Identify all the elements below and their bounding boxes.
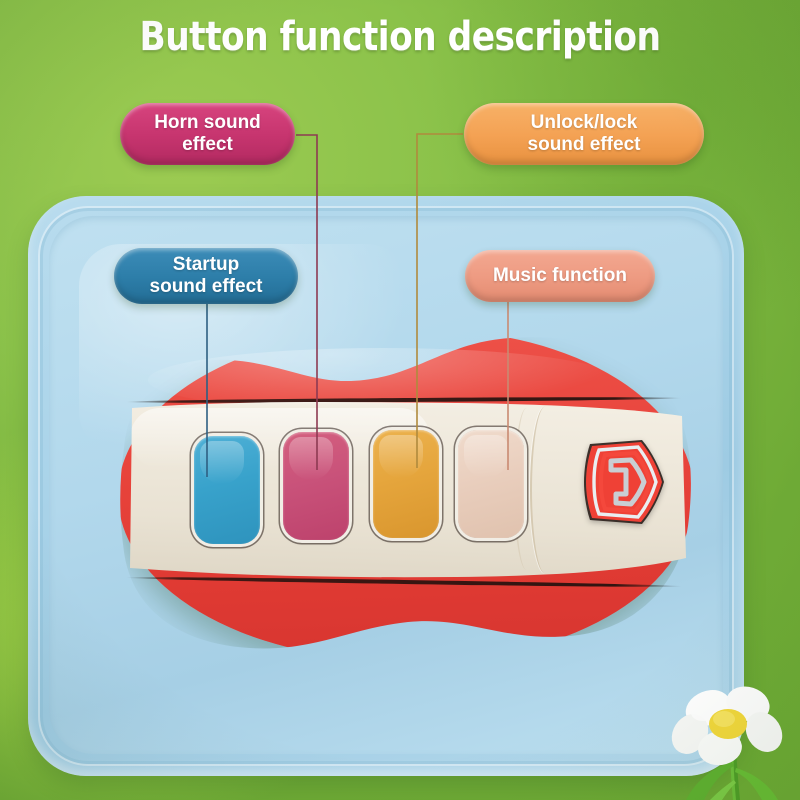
callout-unlock-label: Unlock/lock sound effect <box>528 112 641 157</box>
callout-music-label: Music function <box>493 265 627 287</box>
pink-button[interactable] <box>283 432 349 540</box>
peach-button[interactable] <box>458 430 524 538</box>
toy-car-key-remote <box>118 330 694 660</box>
callout-unlock-lock-sound-effect[interactable]: Unlock/lock sound effect <box>464 103 704 165</box>
car-brand-emblem-icon <box>580 436 666 528</box>
device-panel-seam <box>530 406 556 574</box>
button-gloss <box>379 435 423 478</box>
button-gloss <box>200 441 244 484</box>
callout-horn-sound-effect[interactable]: Horn sound effect <box>120 103 295 165</box>
page-title: Button function description <box>56 14 744 60</box>
button-gloss <box>289 437 333 480</box>
callout-horn-label: Horn sound effect <box>154 112 261 157</box>
callout-startup-label: Startup sound effect <box>150 254 263 299</box>
callout-music-function[interactable]: Music function <box>465 250 655 302</box>
button-gloss <box>464 435 508 478</box>
daisy-flower-icon <box>660 676 800 800</box>
amber-button[interactable] <box>373 430 439 538</box>
callout-startup-sound-effect[interactable]: Startup sound effect <box>114 248 298 304</box>
blue-button[interactable] <box>194 436 260 544</box>
infographic-stage: Button function description <box>0 0 800 800</box>
